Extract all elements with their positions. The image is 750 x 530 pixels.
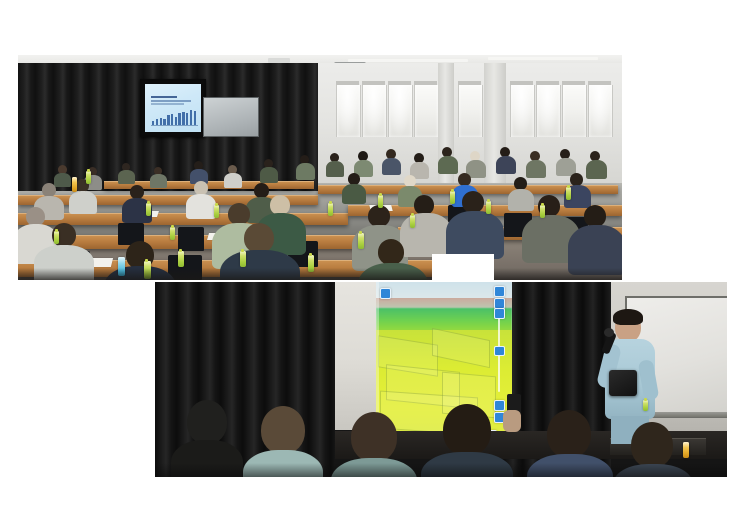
chart-bar <box>171 114 173 125</box>
map-settings-button[interactable] <box>494 286 505 297</box>
foreground-shadow <box>18 268 622 280</box>
chart-bar <box>175 117 177 126</box>
photo-seminar-room-wide[interactable] <box>18 55 622 280</box>
tea-bottle <box>178 251 184 267</box>
photo-presenter-3d-map[interactable] <box>155 282 727 477</box>
window-blind <box>388 85 413 137</box>
chart-bar <box>152 121 154 125</box>
tea-bottle <box>683 442 689 458</box>
foreground-shadow <box>155 463 727 477</box>
window-blind <box>362 85 387 137</box>
tea-bottle <box>328 203 333 216</box>
chair <box>178 227 204 251</box>
chart-axis <box>151 125 198 126</box>
tea-bottle <box>450 191 455 204</box>
ceiling-light-strip <box>488 57 598 60</box>
slide-subtitle-bar <box>151 100 191 102</box>
tea-bottle <box>72 177 77 192</box>
map-zoom-slider-knob[interactable] <box>494 346 505 356</box>
tea-bottle <box>378 195 383 208</box>
tea-bottle <box>540 205 545 218</box>
tea-bottle <box>240 251 246 267</box>
tea-bottle <box>146 203 151 216</box>
chart-bar <box>163 119 165 125</box>
projected-slide <box>145 84 201 132</box>
tea-bottle <box>170 227 175 240</box>
whiteboard <box>203 97 259 137</box>
window-blind <box>510 85 535 137</box>
tea-bottle <box>54 231 59 244</box>
slide-title-bar <box>151 96 177 98</box>
projected-3d-map[interactable] <box>376 282 512 442</box>
presenter-hair <box>613 309 643 325</box>
tea-bottle <box>410 215 415 228</box>
tea-bottle <box>358 233 364 249</box>
window-blind <box>336 85 361 137</box>
chart-bar <box>178 113 180 125</box>
window-blind <box>588 85 613 137</box>
seminar-room-scene <box>18 55 622 280</box>
tea-bottle <box>86 171 91 184</box>
tea-bottle <box>214 205 219 218</box>
window-blind <box>562 85 587 137</box>
tea-bottle <box>486 201 491 214</box>
privacy-redaction-box <box>432 254 494 280</box>
chart-bar <box>156 119 158 125</box>
chart-bar <box>190 110 192 125</box>
tablet-device <box>609 370 637 396</box>
map-layers-button[interactable] <box>380 288 391 299</box>
tea-bottle <box>566 187 571 200</box>
chart-bar <box>186 113 188 125</box>
map-zoom-in-button[interactable] <box>494 400 505 411</box>
ceiling-light-strip <box>348 59 468 62</box>
projection-screen[interactable] <box>140 79 206 137</box>
chart-bar <box>160 118 162 125</box>
microphone-head <box>604 328 614 337</box>
window-blind <box>414 85 439 137</box>
tea-bottle <box>643 400 648 411</box>
photo-collage <box>0 0 750 530</box>
window-blind <box>458 85 483 137</box>
chart-bar <box>194 111 196 125</box>
darkened-room-scene <box>155 282 727 477</box>
window-blind <box>536 85 561 137</box>
chart-bar <box>182 112 184 125</box>
chart-bars <box>152 107 196 125</box>
slide-subtitle-bar <box>151 103 184 105</box>
hand <box>503 410 521 432</box>
chart-bar <box>167 115 169 125</box>
